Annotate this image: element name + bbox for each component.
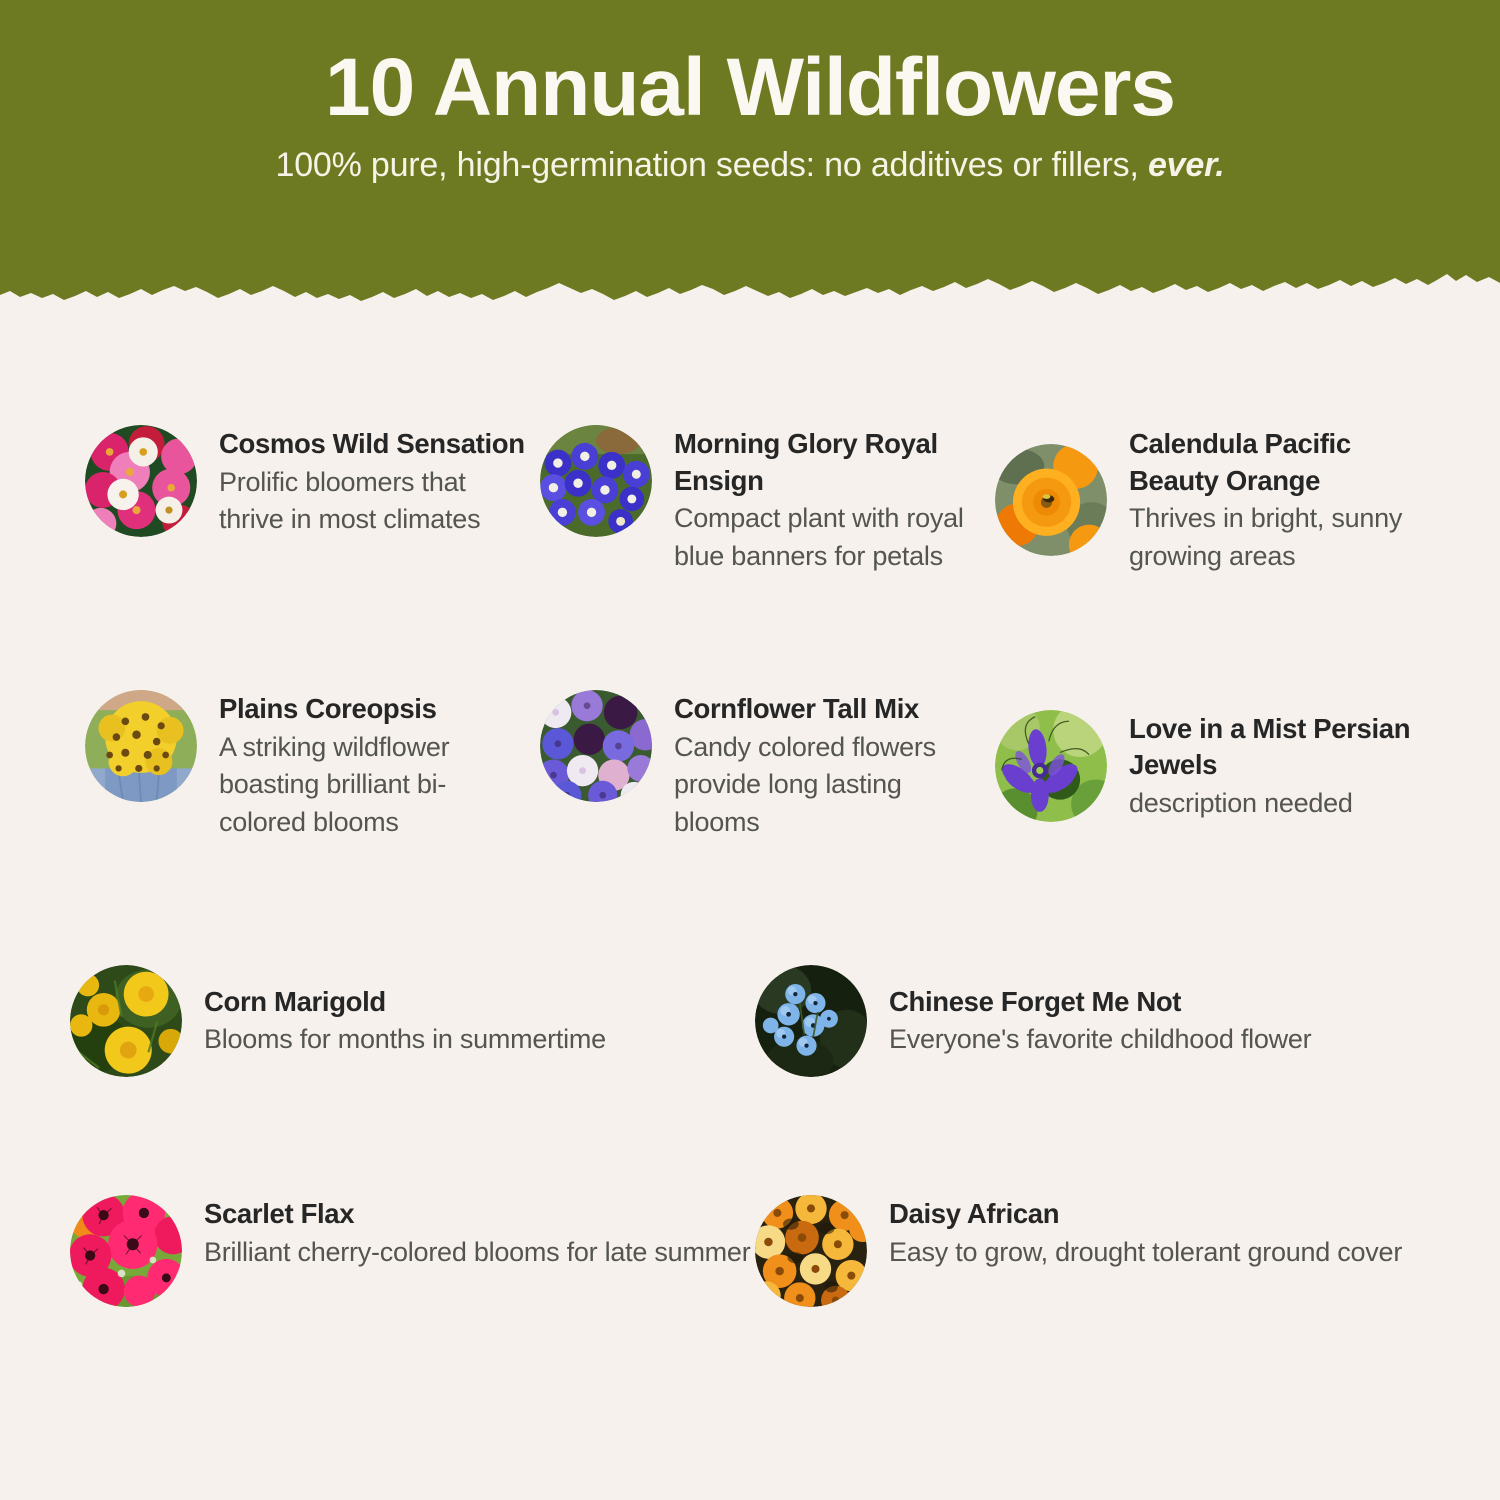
flower-text: Calendula Pacific Beauty Orange Thrives … — [1129, 425, 1435, 576]
corn-marigold-thumbnail — [70, 965, 182, 1077]
flower-description: Prolific bloomers that thrive in most cl… — [219, 463, 525, 540]
thumb-wrap — [755, 1195, 867, 1307]
flower-row-1: Cosmos Wild Sensation Prolific bloomers … — [0, 425, 1500, 576]
flower-name: Morning Glory Royal Ensign — [674, 426, 980, 499]
flower-text: Scarlet Flax Brilliant cherry-colored bl… — [204, 1195, 760, 1271]
flower-description: Thrives in bright, sunny growing areas — [1129, 499, 1435, 576]
flower-name: Chinese Forget Me Not — [889, 984, 1445, 1021]
thumb-wrap — [995, 710, 1107, 822]
flower-text: Love in a Mist Persian Jewels descriptio… — [1129, 710, 1435, 823]
flower-description: Compact plant with royal blue banners fo… — [674, 499, 980, 576]
flower-name: Cosmos Wild Sensation — [219, 426, 525, 463]
flower-item-chinese-forget-me-not[interactable]: Chinese Forget Me Not Everyone's favorit… — [755, 965, 1445, 1077]
page-title: 10 Annual Wildflowers — [0, 46, 1500, 130]
flower-name: Calendula Pacific Beauty Orange — [1129, 426, 1435, 499]
flower-text: Cornflower Tall Mix Candy colored flower… — [674, 690, 980, 842]
flower-text: Corn Marigold Blooms for months in summe… — [204, 983, 760, 1059]
flower-row-4: Scarlet Flax Brilliant cherry-colored bl… — [0, 1195, 1500, 1307]
thumb-wrap — [70, 965, 182, 1077]
chinese-forget-me-not-thumbnail — [755, 965, 867, 1077]
flower-description: A striking wildflower boasting brilliant… — [219, 728, 525, 842]
subtitle-emphasis-text: ever. — [1148, 146, 1225, 184]
flower-description: description needed — [1129, 784, 1435, 823]
cornflower-tall-mix-thumbnail — [540, 690, 652, 802]
flower-item-love-in-a-mist-persian-jewels[interactable]: Love in a Mist Persian Jewels descriptio… — [980, 690, 1435, 842]
thumb-wrap — [995, 444, 1107, 556]
thumb-wrap — [540, 690, 652, 802]
love-in-a-mist-persian-jewels-thumbnail — [995, 710, 1107, 822]
header-banner: 10 Annual Wildflowers 100% pure, high-ge… — [0, 0, 1500, 305]
flower-description: Brilliant cherry-colored blooms for late… — [204, 1233, 760, 1272]
scarlet-flax-thumbnail — [70, 1195, 182, 1307]
flower-text: Plains Coreopsis A striking wildflower b… — [219, 690, 525, 842]
flower-text: Morning Glory Royal Ensign Compact plant… — [674, 425, 980, 576]
flower-description: Blooms for months in summertime — [204, 1020, 760, 1059]
plains-coreopsis-thumbnail — [85, 690, 197, 802]
flower-name: Corn Marigold — [204, 984, 760, 1021]
flower-item-scarlet-flax[interactable]: Scarlet Flax Brilliant cherry-colored bl… — [70, 1195, 760, 1307]
flower-name: Cornflower Tall Mix — [674, 691, 980, 728]
page-subtitle: 100% pure, high-germination seeds: no ad… — [0, 130, 1500, 185]
thumb-wrap — [755, 965, 867, 1077]
torn-paper-edge — [0, 261, 1500, 305]
flower-name: Love in a Mist Persian Jewels — [1129, 711, 1435, 784]
thumb-wrap — [85, 425, 197, 537]
flower-name: Plains Coreopsis — [219, 691, 525, 728]
thumb-wrap — [70, 1195, 182, 1307]
subtitle-main-text: 100% pure, high-germination seeds: no ad… — [275, 146, 1147, 184]
flower-text: Chinese Forget Me Not Everyone's favorit… — [889, 983, 1445, 1059]
flower-name: Daisy African — [889, 1196, 1445, 1233]
flower-item-cosmos-wild-sensation[interactable]: Cosmos Wild Sensation Prolific bloomers … — [70, 425, 525, 576]
header-text-group: 10 Annual Wildflowers 100% pure, high-ge… — [0, 0, 1500, 185]
flower-description: Candy colored flowers provide long lasti… — [674, 728, 980, 842]
morning-glory-royal-ensign-thumbnail — [540, 425, 652, 537]
flower-row-2: Plains Coreopsis A striking wildflower b… — [0, 690, 1500, 842]
calendula-pacific-beauty-orange-thumbnail — [995, 444, 1107, 556]
flower-row-3: Corn Marigold Blooms for months in summe… — [0, 965, 1500, 1077]
flower-text: Cosmos Wild Sensation Prolific bloomers … — [219, 425, 525, 539]
flower-item-cornflower-tall-mix[interactable]: Cornflower Tall Mix Candy colored flower… — [525, 690, 980, 842]
flower-name: Scarlet Flax — [204, 1196, 760, 1233]
flower-description: Easy to grow, drought tolerant ground co… — [889, 1233, 1445, 1272]
flower-item-daisy-african[interactable]: Daisy African Easy to grow, drought tole… — [755, 1195, 1445, 1307]
flower-list: Cosmos Wild Sensation Prolific bloomers … — [0, 305, 1500, 1500]
flower-text: Daisy African Easy to grow, drought tole… — [889, 1195, 1445, 1271]
cosmos-wild-sensation-thumbnail — [85, 425, 197, 537]
flower-item-corn-marigold[interactable]: Corn Marigold Blooms for months in summe… — [70, 965, 760, 1077]
flower-item-morning-glory-royal-ensign[interactable]: Morning Glory Royal Ensign Compact plant… — [525, 425, 980, 576]
flower-description: Everyone's favorite childhood flower — [889, 1020, 1445, 1059]
flower-item-plains-coreopsis[interactable]: Plains Coreopsis A striking wildflower b… — [70, 690, 525, 842]
thumb-wrap — [85, 690, 197, 802]
flower-item-calendula-pacific-beauty-orange[interactable]: Calendula Pacific Beauty Orange Thrives … — [980, 425, 1435, 576]
daisy-african-thumbnail — [755, 1195, 867, 1307]
thumb-wrap — [540, 425, 652, 537]
